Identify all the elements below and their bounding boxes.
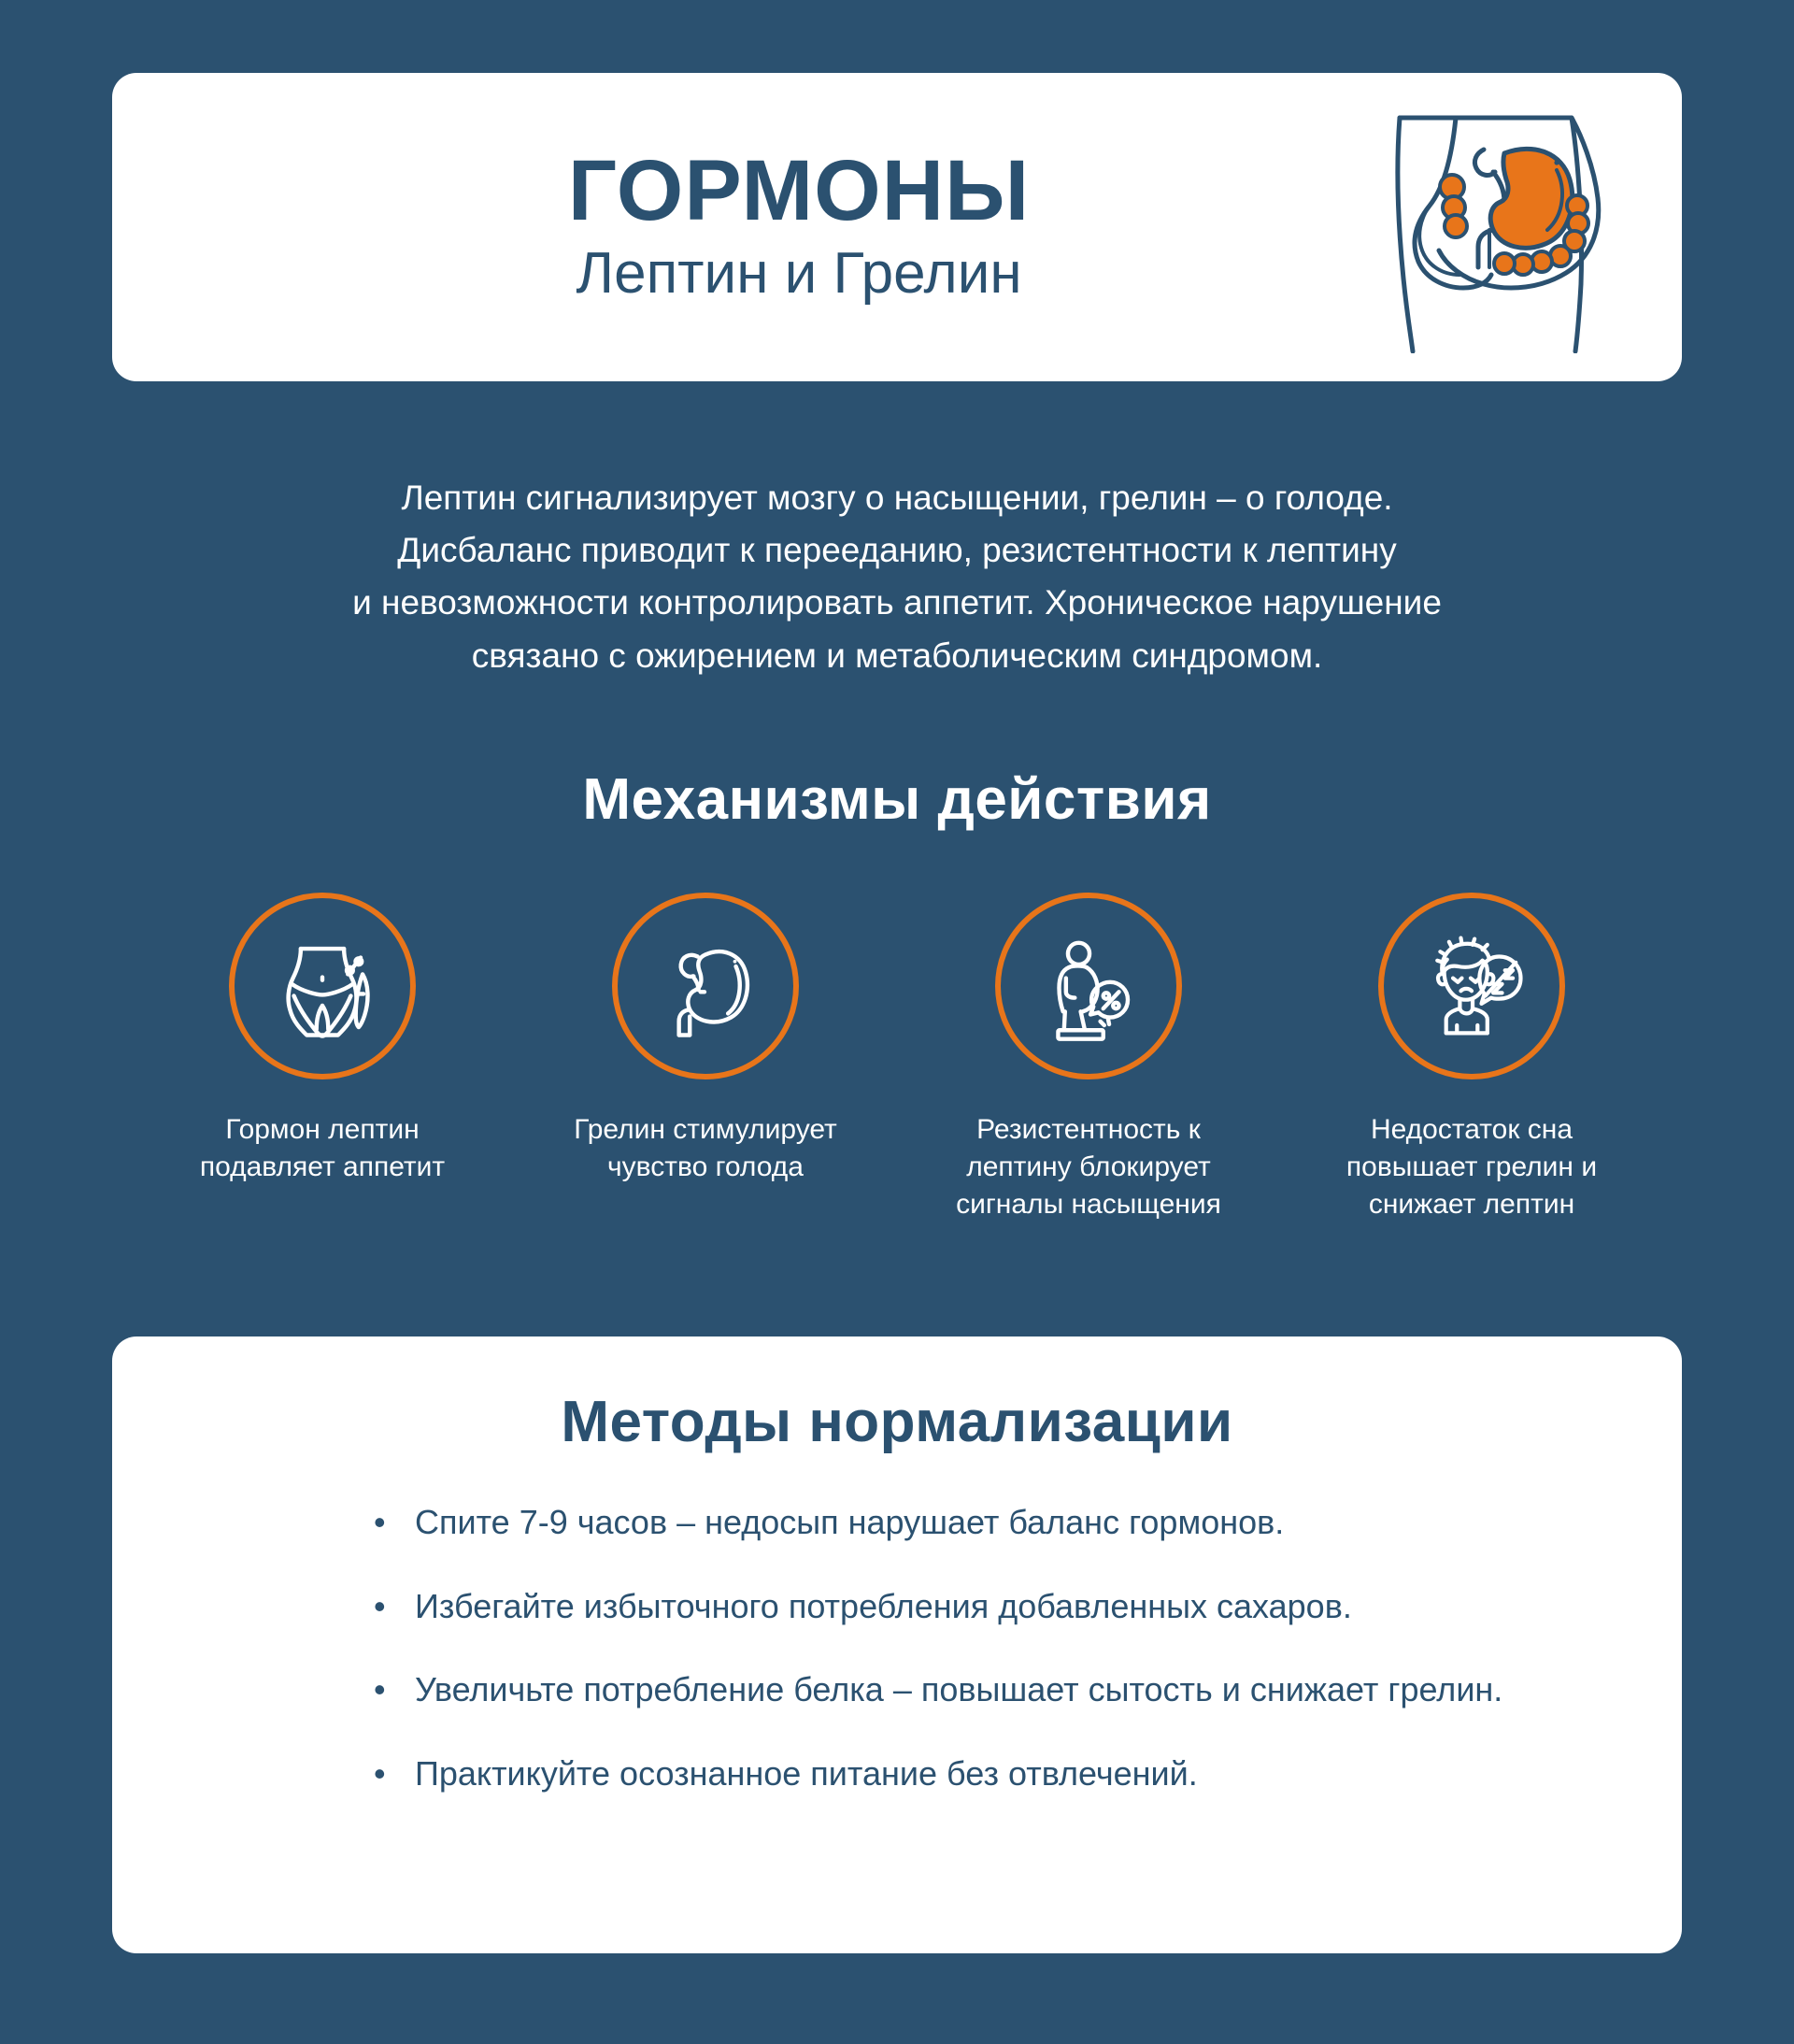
bullet-icon: • bbox=[374, 1751, 386, 1796]
tired-face-no-sleep-icon bbox=[1413, 927, 1531, 1045]
mechanism-icon-circle bbox=[995, 893, 1182, 1079]
mechanism-caption: Грелин стимулирует чувство голода bbox=[542, 1111, 869, 1186]
person-on-scale-percent-icon bbox=[1030, 927, 1147, 1045]
mechanism-icon-circle bbox=[229, 893, 416, 1079]
list-item: • Избегайте избыточного потребления доба… bbox=[374, 1584, 1532, 1629]
female-waist-measuring-tape-icon bbox=[263, 927, 381, 1045]
stomach-icon bbox=[647, 927, 764, 1045]
header-card: ГОРМОНЫ Лептин и Грелин bbox=[112, 73, 1682, 381]
list-item-text: Практикуйте осознанное питание без отвле… bbox=[415, 1754, 1198, 1793]
list-item-text: Спите 7-9 часов – недосып нарушает балан… bbox=[415, 1503, 1284, 1541]
bullet-icon: • bbox=[374, 1667, 386, 1712]
methods-list: • Спите 7-9 часов – недосып нарушает бал… bbox=[196, 1500, 1598, 1795]
mechanism-caption: Недостаток сна повышает грелин и снижает… bbox=[1308, 1111, 1635, 1224]
intro-line: и невозможности контролировать аппетит. … bbox=[149, 577, 1644, 629]
list-item-text: Увеличьте потребление белка – повышает с… bbox=[415, 1670, 1502, 1708]
mechanism-item: Грелин стимулирует чувство голода bbox=[533, 893, 878, 1186]
intro-line: связано с ожирением и метаболическим син… bbox=[149, 630, 1644, 682]
mechanism-caption: Гормон лептин подавляет аппетит bbox=[159, 1111, 486, 1186]
mechanism-icon-circle bbox=[1378, 893, 1565, 1079]
methods-card: Методы нормализации • Спите 7-9 часов – … bbox=[112, 1336, 1682, 1953]
list-item-text: Избегайте избыточного потребления добавл… bbox=[415, 1587, 1352, 1625]
list-item: • Увеличьте потребление белка – повышает… bbox=[374, 1667, 1532, 1712]
mechanism-item: Гормон лептин подавляет аппетит bbox=[149, 893, 495, 1186]
mechanism-caption: Резистентность к лептину блокирует сигна… bbox=[925, 1111, 1252, 1224]
bullet-icon: • bbox=[374, 1500, 386, 1545]
human-torso-stomach-intestine-illustration bbox=[1374, 101, 1616, 353]
header-titles: ГОРМОНЫ Лептин и Грелин bbox=[112, 148, 1374, 306]
mechanism-icon-circle bbox=[612, 893, 799, 1079]
infographic-poster: ГОРМОНЫ Лептин и Грелин bbox=[0, 0, 1794, 2044]
page-subtitle: Лептин и Грелин bbox=[224, 241, 1374, 306]
page-title: ГОРМОНЫ bbox=[224, 148, 1374, 236]
list-item: • Практикуйте осознанное питание без отв… bbox=[374, 1751, 1532, 1796]
mechanism-item: Резистентность к лептину блокирует сигна… bbox=[916, 893, 1261, 1224]
intro-line: Дисбаланс приводит к перееданию, резисте… bbox=[149, 524, 1644, 577]
intro-paragraph: Лептин сигнализирует мозгу о насыщении, … bbox=[149, 472, 1644, 682]
intro-line: Лептин сигнализирует мозгу о насыщении, … bbox=[149, 472, 1644, 524]
methods-heading: Методы нормализации bbox=[196, 1389, 1598, 1455]
bullet-icon: • bbox=[374, 1584, 386, 1629]
mechanisms-heading: Механизмы действия bbox=[0, 766, 1794, 833]
list-item: • Спите 7-9 часов – недосып нарушает бал… bbox=[374, 1500, 1532, 1545]
mechanisms-grid: Гормон лептин подавляет аппетит bbox=[149, 893, 1644, 1224]
mechanism-item: Недостаток сна повышает грелин и снижает… bbox=[1299, 893, 1644, 1224]
